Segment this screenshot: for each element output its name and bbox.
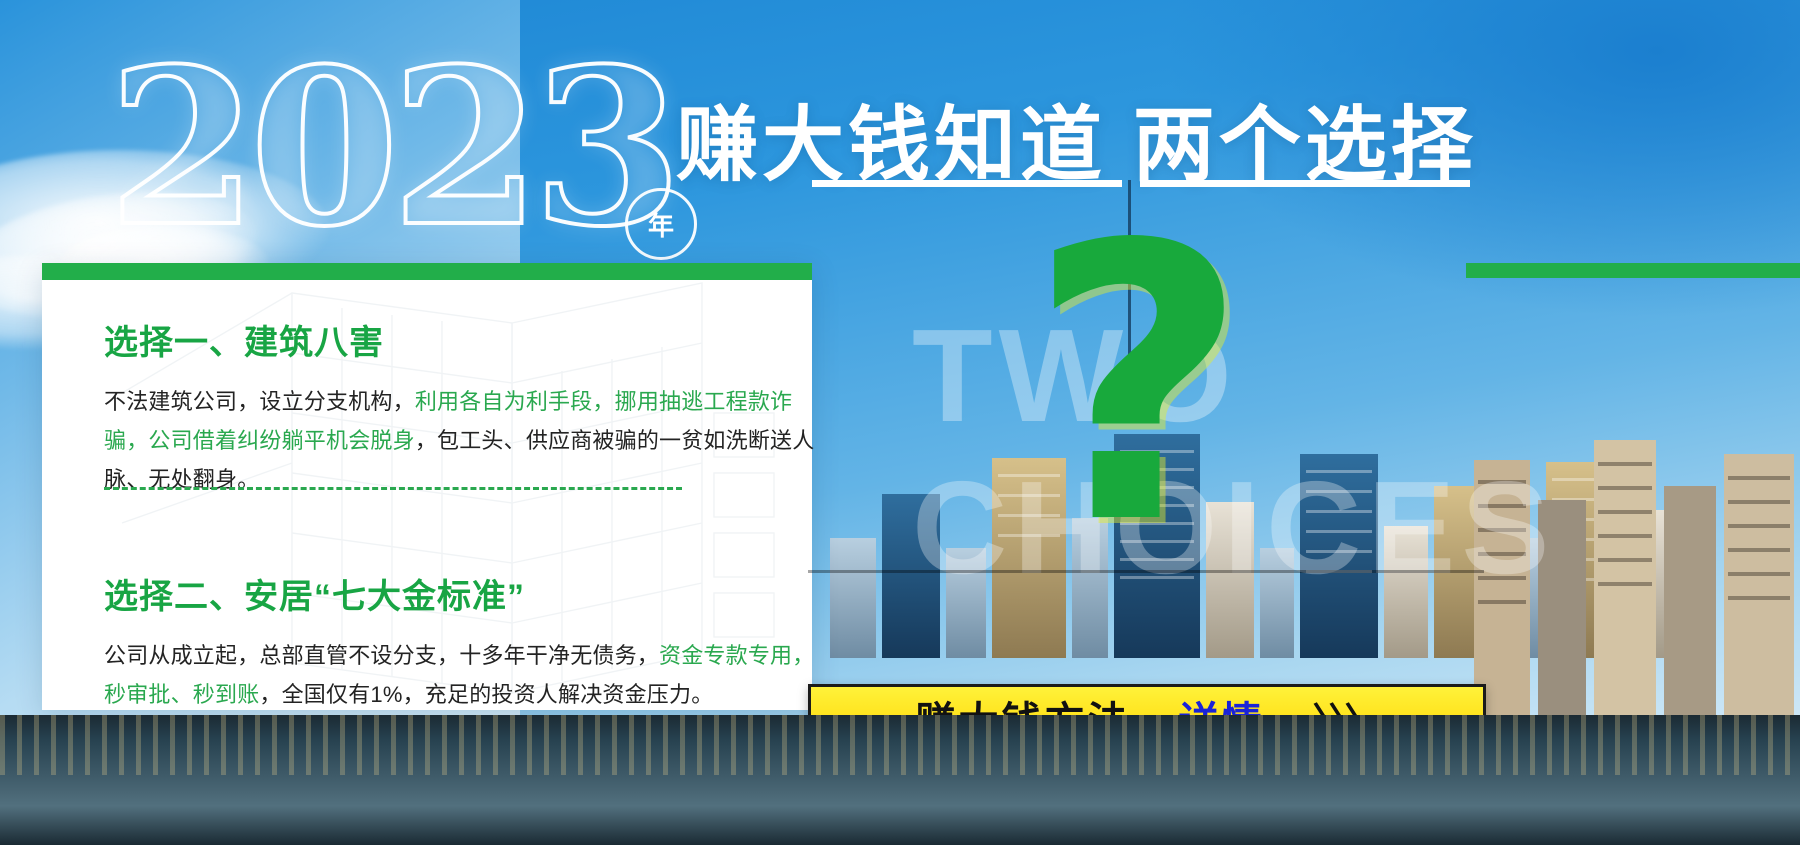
right-accent-bar [1466,263,1800,278]
year-unit-badge: 年 [625,188,697,260]
section-divider [104,487,682,490]
section-one-body: 不法建筑公司，设立分支机构，利用各自为利手段，挪用抽逃工程款诈骗，公司借着纠纷躺… [104,382,816,499]
ground-lights [0,715,1800,775]
question-mark-icon: ? [1028,196,1248,576]
section-two-body: 公司从成立起，总部直管不设分支，十多年干净无债务，资金专款专用，秒审批、秒到账，… [104,636,816,714]
cta-frame-line [808,570,1484,573]
section-one-title: 选择一、建筑八害 [104,315,812,364]
section-two-title: 选择二、安居“七大金标准” [104,569,812,618]
year-numerals: 2023 [108,40,674,255]
body-run-black: ，全国仅有1%，充足的投资人解决资金压力。 [259,682,713,707]
promo-poster: 2023 年 赚大钱知道 两个选择 TWO CHOICES ? [0,0,1800,845]
body-run-black: 不法建筑公司，设立分支机构， [104,389,415,414]
body-run-black: 公司从成立起，总部直管不设分支，十多年干净无债务， [104,643,659,668]
card-top-accent-bar [42,263,812,280]
info-card: 选择一、建筑八害 不法建筑公司，设立分支机构，利用各自为利手段，挪用抽逃工程款诈… [42,263,812,710]
